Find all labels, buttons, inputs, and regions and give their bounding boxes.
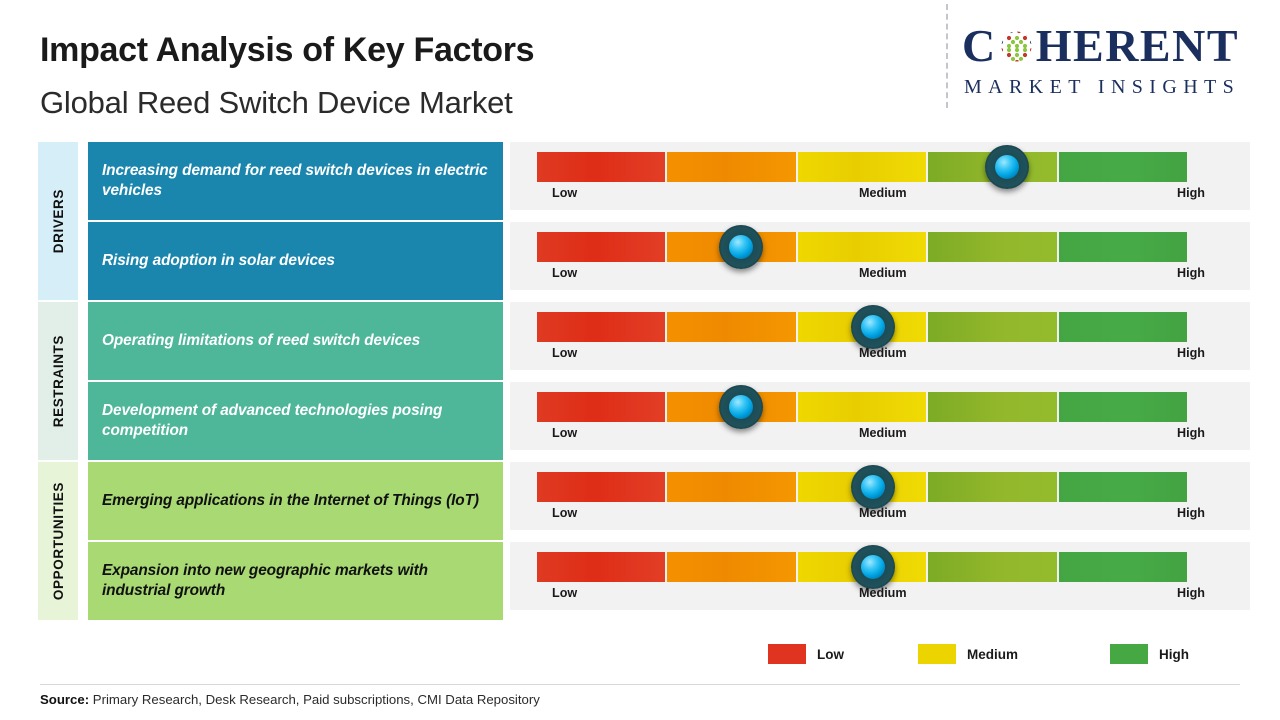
gauge-segment-4: [1059, 472, 1187, 502]
category-group-drivers: DRIVERSIncreasing demand for reed switch…: [38, 142, 503, 300]
gauge-segment-2: [798, 152, 926, 182]
factor-card[interactable]: Operating limitations of reed switch dev…: [88, 302, 503, 380]
logo-word-remainder: HERENT: [1036, 20, 1239, 71]
gauge-scale-labels: LowMediumHigh: [537, 346, 1227, 366]
impact-gauge-list: LowMediumHighLowMediumHighLowMediumHighL…: [510, 142, 1250, 608]
legend-swatch-high: [1110, 644, 1148, 664]
factor-text: Increasing demand for reed switch device…: [102, 161, 489, 202]
scale-label-medium: Medium: [859, 266, 907, 280]
gauge-segment-3: [928, 312, 1056, 342]
scale-label-low: Low: [552, 346, 577, 360]
gauge-segment-0: [537, 312, 665, 342]
gauge-segment-1: [667, 472, 795, 502]
gauge-segment-1: [667, 312, 795, 342]
impact-marker[interactable]: [985, 145, 1029, 189]
gauge-segment-4: [1059, 312, 1187, 342]
source-label: Source:: [40, 692, 89, 707]
category-strip-opportunities: OPPORTUNITIES: [38, 462, 78, 620]
logo-wordmark: CHERENT: [962, 18, 1262, 74]
factor-card[interactable]: Development of advanced technologies pos…: [88, 382, 503, 460]
scale-label-high: High: [1177, 586, 1205, 600]
factor-card[interactable]: Emerging applications in the Internet of…: [88, 462, 503, 540]
category-group-opportunities: OPPORTUNITIESEmerging applications in th…: [38, 462, 503, 620]
scale-label-high: High: [1177, 266, 1205, 280]
legend-item: High: [1110, 644, 1189, 664]
gauge-segment-2: [798, 392, 926, 422]
gauge-row: LowMediumHigh: [510, 302, 1250, 370]
gauge-segment-3: [928, 472, 1056, 502]
gauge-row: LowMediumHigh: [510, 222, 1250, 290]
impact-marker[interactable]: [719, 385, 763, 429]
factor-card[interactable]: Expansion into new geographic markets wi…: [88, 542, 503, 620]
source-text: Primary Research, Desk Research, Paid su…: [93, 692, 540, 707]
globe-dots-icon: [998, 22, 1035, 59]
gauge-bar: [537, 152, 1187, 182]
gauge-scale-labels: LowMediumHigh: [537, 186, 1227, 206]
category-label: OPPORTUNITIES: [51, 482, 66, 600]
legend-label: Medium: [967, 647, 1018, 662]
factor-card[interactable]: Increasing demand for reed switch device…: [88, 142, 503, 220]
gauge-segment-0: [537, 232, 665, 262]
gauge-segment-0: [537, 552, 665, 582]
gauge-row: LowMediumHigh: [510, 142, 1250, 210]
category-label: RESTRAINTS: [51, 335, 66, 427]
factor-list: DRIVERSIncreasing demand for reed switch…: [38, 142, 503, 608]
gauge-segment-1: [667, 552, 795, 582]
gauge-segment-1: [667, 152, 795, 182]
scale-label-medium: Medium: [859, 346, 907, 360]
impact-marker[interactable]: [851, 305, 895, 349]
impact-marker[interactable]: [851, 545, 895, 589]
legend-swatch-medium: [918, 644, 956, 664]
gauge-segment-3: [928, 232, 1056, 262]
scale-label-high: High: [1177, 506, 1205, 520]
legend-swatch-low: [768, 644, 806, 664]
header-dashed-divider: [946, 4, 948, 108]
coherent-market-insights-logo: CHERENT MARKET INSIGHTS: [962, 18, 1262, 108]
page-title: Impact Analysis of Key Factors: [40, 31, 534, 70]
factor-text: Emerging applications in the Internet of…: [102, 491, 479, 511]
gauge-segment-4: [1059, 232, 1187, 262]
factor-text: Rising adoption in solar devices: [102, 251, 335, 271]
gauge-segment-3: [928, 552, 1056, 582]
impact-marker[interactable]: [719, 225, 763, 269]
scale-label-high: High: [1177, 426, 1205, 440]
gauge-scale-labels: LowMediumHigh: [537, 426, 1227, 446]
scale-label-low: Low: [552, 506, 577, 520]
gauge-segment-4: [1059, 152, 1187, 182]
gauge-row: LowMediumHigh: [510, 462, 1250, 530]
gauge-scale-labels: LowMediumHigh: [537, 586, 1227, 606]
gauge-segment-0: [537, 392, 665, 422]
category-strip-drivers: DRIVERS: [38, 142, 78, 300]
scale-label-medium: Medium: [859, 586, 907, 600]
category-label: DRIVERS: [51, 189, 66, 253]
scale-label-medium: Medium: [859, 186, 907, 200]
gauge-row: LowMediumHigh: [510, 542, 1250, 610]
scale-label-low: Low: [552, 186, 577, 200]
category-group-restraints: RESTRAINTSOperating limitations of reed …: [38, 302, 503, 460]
logo-letter-c: C: [962, 20, 997, 71]
gauge-segment-2: [798, 232, 926, 262]
scale-label-medium: Medium: [859, 506, 907, 520]
legend-label: Low: [817, 647, 844, 662]
scale-label-medium: Medium: [859, 426, 907, 440]
gauge-bar: [537, 232, 1187, 262]
factor-text: Operating limitations of reed switch dev…: [102, 331, 420, 351]
gauge-segment-0: [537, 152, 665, 182]
impact-marker[interactable]: [851, 465, 895, 509]
gauge-segment-0: [537, 472, 665, 502]
gauge-bar: [537, 392, 1187, 422]
category-strip-restraints: RESTRAINTS: [38, 302, 78, 460]
gauge-segment-4: [1059, 392, 1187, 422]
page-header: Impact Analysis of Key Factors Global Re…: [0, 0, 1280, 130]
factor-card[interactable]: Rising adoption in solar devices: [88, 222, 503, 300]
legend-label: High: [1159, 647, 1189, 662]
scale-label-low: Low: [552, 426, 577, 440]
gauge-scale-labels: LowMediumHigh: [537, 506, 1227, 526]
factor-text: Development of advanced technologies pos…: [102, 401, 489, 442]
gauge-segment-3: [928, 392, 1056, 422]
scale-label-high: High: [1177, 186, 1205, 200]
impact-legend: LowMediumHigh: [760, 644, 1200, 670]
gauge-scale-labels: LowMediumHigh: [537, 266, 1227, 286]
scale-label-low: Low: [552, 586, 577, 600]
scale-label-high: High: [1177, 346, 1205, 360]
scale-label-low: Low: [552, 266, 577, 280]
legend-item: Medium: [918, 644, 1018, 664]
factor-text: Expansion into new geographic markets wi…: [102, 561, 489, 602]
gauge-segment-4: [1059, 552, 1187, 582]
legend-item: Low: [768, 644, 844, 664]
source-note: Source: Primary Research, Desk Research,…: [40, 692, 540, 707]
gauge-row: LowMediumHigh: [510, 382, 1250, 450]
logo-tagline: MARKET INSIGHTS: [964, 76, 1240, 99]
footer-divider: [40, 684, 1240, 685]
page-subtitle: Global Reed Switch Device Market: [40, 85, 513, 121]
